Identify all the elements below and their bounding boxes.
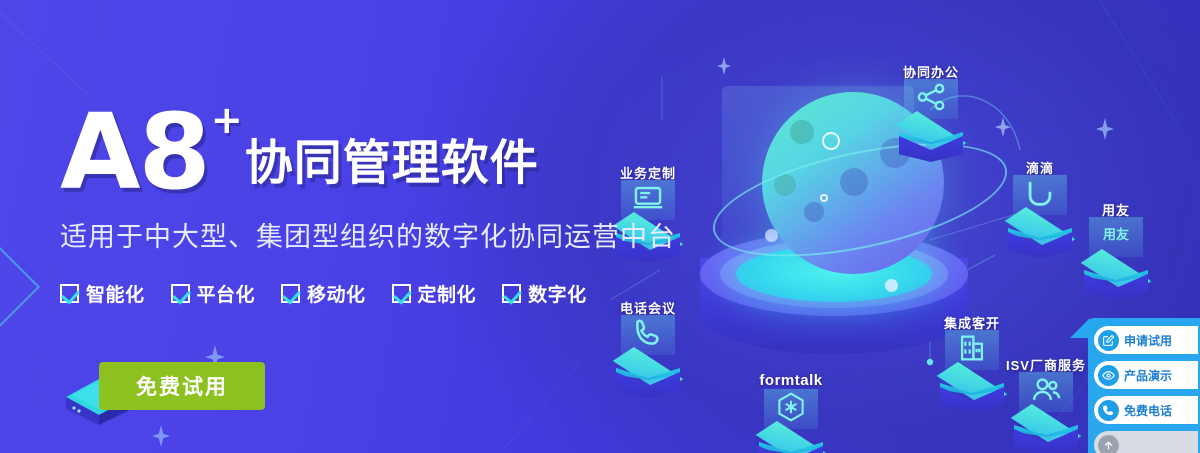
share-network-icon bbox=[914, 80, 948, 114]
feature-label: 移动化 bbox=[307, 280, 366, 307]
building-icon bbox=[955, 331, 989, 365]
free-trial-button[interactable]: 免费试用 bbox=[99, 362, 265, 410]
brand-subtitle-cn: 协同管理软件 bbox=[245, 123, 539, 193]
planet-sphere bbox=[762, 92, 944, 274]
sparkle-decoration bbox=[717, 57, 731, 75]
feature-item-custom: 定制化 bbox=[392, 280, 477, 307]
podium-platform bbox=[700, 232, 968, 392]
feature-label: 智能化 bbox=[86, 280, 145, 307]
checkbox-checked-icon bbox=[171, 284, 190, 303]
brand-name: A8 bbox=[60, 108, 209, 197]
feature-item-digital: 数字化 bbox=[502, 280, 587, 307]
didi-logo-icon bbox=[1023, 176, 1057, 210]
node-label: 用友 bbox=[1102, 200, 1130, 219]
diagonal-line-decoration bbox=[0, 12, 88, 95]
crater-ring bbox=[822, 132, 840, 150]
checkbox-checked-icon bbox=[502, 284, 521, 303]
feature-label: 定制化 bbox=[418, 280, 477, 307]
orbit-ring bbox=[703, 122, 1016, 278]
sparkle-decoration bbox=[1096, 118, 1114, 140]
hero-copy: A8 + 协同管理软件 适用于中大型、集团型组织的数字化协同运营中台 智能化 平… bbox=[60, 108, 700, 307]
phone-icon bbox=[631, 316, 665, 350]
node-cube bbox=[1076, 252, 1156, 310]
hexagon-snowflake-icon bbox=[774, 390, 808, 424]
node-label: formtalk bbox=[759, 372, 822, 389]
node-label: 集成客开 bbox=[944, 313, 1000, 332]
node-cube bbox=[932, 365, 1012, 423]
crater bbox=[840, 168, 868, 196]
floating-dot bbox=[765, 229, 778, 242]
feature-item-mobile: 移动化 bbox=[281, 280, 366, 307]
panel-item-product-demo[interactable]: 产品演示 bbox=[1094, 361, 1198, 389]
crater bbox=[804, 202, 824, 222]
crater bbox=[790, 120, 814, 144]
chevron-decoration bbox=[0, 246, 40, 328]
arrow-up-icon bbox=[1098, 435, 1119, 453]
edit-square-icon bbox=[1098, 330, 1119, 351]
panel-item-free-call[interactable]: 免费电话 bbox=[1094, 396, 1198, 424]
light-beam bbox=[722, 86, 914, 282]
crater-ring bbox=[820, 194, 828, 202]
floating-dot bbox=[885, 279, 898, 292]
feature-label: 数字化 bbox=[528, 280, 587, 307]
node-cube bbox=[1006, 407, 1086, 453]
yonyou-logo-icon: 用友 bbox=[1099, 218, 1133, 252]
diagonal-line-decoration bbox=[1099, 0, 1179, 128]
checkbox-checked-icon bbox=[392, 284, 411, 303]
feature-label: 平台化 bbox=[197, 280, 256, 307]
node-cube bbox=[608, 350, 688, 408]
checkbox-checked-icon bbox=[60, 284, 79, 303]
page-title: A8 + 协同管理软件 bbox=[60, 108, 700, 197]
node-cube bbox=[751, 424, 831, 453]
floating-action-panel: 申请试用 产品演示 免费电话 bbox=[1088, 318, 1200, 453]
panel-item-apply-trial[interactable]: 申请试用 bbox=[1094, 326, 1198, 354]
users-icon bbox=[1029, 373, 1063, 407]
brand-superscript: + bbox=[211, 101, 243, 139]
feature-item-intelligent: 智能化 bbox=[60, 280, 145, 307]
phone-icon bbox=[1098, 400, 1119, 421]
panel-item-label: 产品演示 bbox=[1124, 367, 1172, 384]
crater bbox=[880, 138, 910, 168]
eye-icon bbox=[1098, 365, 1119, 386]
node-label: ISV厂商服务 bbox=[1006, 355, 1086, 374]
sparkle-decoration bbox=[995, 117, 1011, 137]
sparkle-decoration bbox=[152, 425, 170, 447]
checkbox-checked-icon bbox=[281, 284, 300, 303]
feature-list: 智能化 平台化 移动化 定制化 数字化 bbox=[60, 280, 700, 307]
feature-item-platform: 平台化 bbox=[171, 280, 256, 307]
diagonal-line-decoration bbox=[500, 363, 581, 453]
node-label: 滴滴 bbox=[1026, 158, 1054, 177]
node-label: 协同办公 bbox=[903, 62, 959, 81]
panel-item-back-to-top[interactable] bbox=[1094, 431, 1198, 453]
crater bbox=[774, 174, 796, 196]
node-cube bbox=[891, 114, 971, 172]
panel-item-label: 免费电话 bbox=[1124, 402, 1172, 419]
panel-item-label: 申请试用 bbox=[1124, 332, 1172, 349]
hero-banner: 协同办公 业务定制 滴滴 用友 bbox=[0, 0, 1200, 453]
node-logo-text: 用友 bbox=[1099, 218, 1133, 252]
hero-subtitle: 适用于中大型、集团型组织的数字化协同运营中台 bbox=[60, 215, 700, 254]
node-cube bbox=[1000, 210, 1080, 268]
